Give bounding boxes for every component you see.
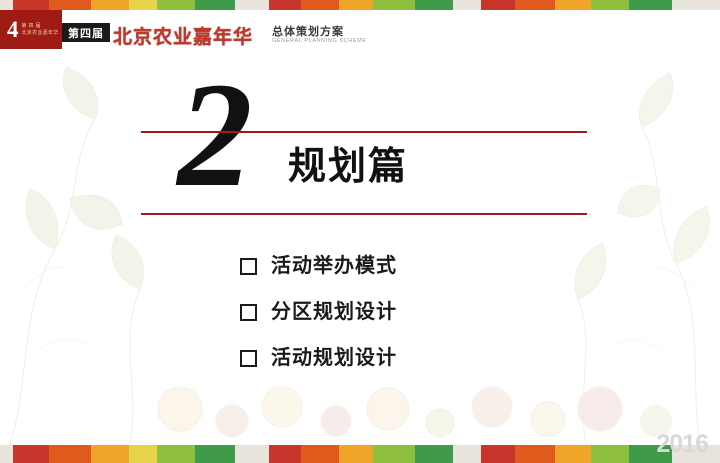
bullet-item[interactable]: 活动举办模式: [240, 243, 540, 289]
color-block: [49, 445, 91, 463]
color-block: [301, 0, 339, 10]
color-block: [453, 0, 481, 10]
color-block: [269, 445, 301, 463]
bullet-item-label: 分区规划设计: [271, 302, 397, 322]
bottom-color-strip: [0, 445, 720, 463]
color-block: [13, 445, 49, 463]
color-block: [629, 0, 673, 10]
checkbox-icon: [240, 350, 257, 367]
header-bar: 4 第 四 届 北京农业嘉年华 第四届 北京农业嘉年华 总体策划方案 GENER…: [0, 10, 720, 49]
color-block: [415, 0, 453, 10]
bullet-list: 活动举办模式分区规划设计活动规划设计: [240, 243, 540, 381]
color-block: [157, 445, 195, 463]
color-block: [515, 445, 555, 463]
edition-badge-red: 4 第 四 届 北京农业嘉年华: [0, 10, 62, 49]
edition-badge-black: 第四届: [62, 23, 110, 42]
color-block: [91, 0, 129, 10]
color-block: [301, 445, 339, 463]
bullet-item[interactable]: 分区规划设计: [240, 289, 540, 335]
color-block: [481, 445, 515, 463]
color-block: [195, 0, 235, 10]
color-block: [91, 445, 129, 463]
slide-canvas: 4 第 四 届 北京农业嘉年华 第四届 北京农业嘉年华 总体策划方案 GENER…: [0, 0, 720, 463]
year-watermark: 2016: [656, 432, 708, 457]
color-block: [157, 0, 195, 10]
color-block: [269, 0, 301, 10]
checkbox-icon: [240, 304, 257, 321]
bullet-item-label: 活动规划设计: [271, 348, 397, 368]
color-block: [235, 445, 269, 463]
color-block: [339, 445, 373, 463]
color-block: [481, 0, 515, 10]
color-block: [591, 0, 629, 10]
bullet-item[interactable]: 活动规划设计: [240, 335, 540, 381]
document-subtitle-cn: 总体策划方案: [272, 23, 344, 39]
color-block: [555, 445, 591, 463]
document-subtitle-en: GENERAL PLANNING SCHEME: [272, 38, 367, 44]
color-block: [339, 0, 373, 10]
color-block: [373, 445, 415, 463]
color-block: [453, 445, 481, 463]
edition-number: 4: [7, 18, 19, 41]
edition-sub-line2: 北京农业嘉年华: [22, 30, 59, 36]
top-color-strip: [0, 0, 720, 10]
bullet-item-label: 活动举办模式: [271, 256, 397, 276]
divider-top: [141, 131, 587, 133]
color-block: [13, 0, 49, 10]
color-block: [415, 445, 453, 463]
color-block: [373, 0, 415, 10]
color-block: [0, 445, 13, 463]
color-block: [0, 0, 13, 10]
color-block: [515, 0, 555, 10]
color-block: [235, 0, 269, 10]
color-block: [195, 445, 235, 463]
color-block: [591, 445, 629, 463]
page-title: 规划篇: [288, 148, 408, 186]
color-block: [49, 0, 91, 10]
color-block: [672, 0, 719, 10]
color-block: [129, 0, 157, 10]
color-block: [555, 0, 591, 10]
event-title: 北京农业嘉年华: [113, 22, 253, 49]
color-block: [129, 445, 157, 463]
section-number: 2: [148, 65, 278, 205]
divider-bottom: [141, 213, 587, 215]
checkbox-icon: [240, 258, 257, 275]
